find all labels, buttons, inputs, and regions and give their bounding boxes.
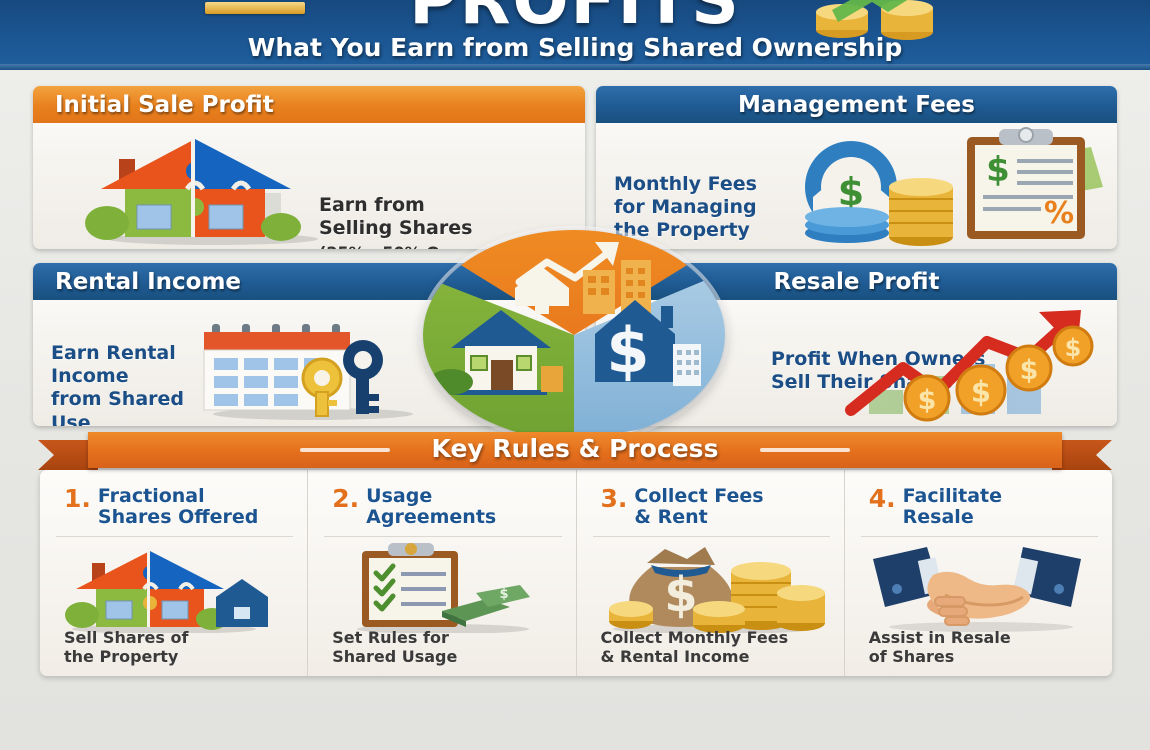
step-number: 2. xyxy=(332,486,359,511)
page-subtitle: What You Earn from Selling Shared Owners… xyxy=(0,33,1150,62)
step-divider xyxy=(593,536,830,537)
ribbon-label: Key Rules & Process xyxy=(0,434,1150,463)
step-title: Usage Agreements xyxy=(366,486,496,529)
svg-text:$: $ xyxy=(664,567,697,623)
step-number: 1. xyxy=(64,486,91,511)
rising-arrow-with-coins-icon: $ $ $ $ xyxy=(833,306,1113,424)
step-caption: Assist in Resale of Shares xyxy=(869,628,1011,666)
svg-text:$: $ xyxy=(606,314,649,387)
puzzle-piece-house-icon xyxy=(83,131,343,246)
svg-text:$: $ xyxy=(918,385,937,416)
step-facilitate-resale[interactable]: 4. Facilitate Resale xyxy=(844,470,1112,676)
key-rules-panel: 1. Fractional Shares Offered xyxy=(40,470,1112,676)
svg-text:$: $ xyxy=(971,375,991,409)
svg-text:$: $ xyxy=(500,587,509,602)
step-collect-fees-and-rent[interactable]: 3. Collect Fees & Rent $ xyxy=(576,470,844,676)
step-usage-agreements[interactable]: 2. Usage Agreements xyxy=(307,470,575,676)
step-caption: Set Rules for Shared Usage xyxy=(332,628,457,666)
key-rules-ribbon: Key Rules & Process xyxy=(0,428,1150,472)
calendar-and-keys-icon xyxy=(198,308,428,420)
step-header: 2. Usage Agreements xyxy=(332,486,561,529)
svg-text:$: $ xyxy=(986,150,1010,190)
card-copy-rental-income: Earn Rental Income from Shared Use xyxy=(51,342,206,426)
step-number: 3. xyxy=(601,486,628,511)
clipboard-checklist-cash-icon: $ xyxy=(332,541,561,633)
card-initial-sale-profit[interactable]: Initial Sale Profit xyxy=(33,86,585,249)
card-title-initial-sale-profit: Initial Sale Profit xyxy=(33,86,585,123)
step-divider xyxy=(56,536,293,537)
step-caption: Sell Shares of the Property xyxy=(64,628,188,666)
step-header: 1. Fractional Shares Offered xyxy=(64,486,293,529)
step-header: 3. Collect Fees & Rent xyxy=(601,486,830,529)
step-caption: Collect Monthly Fees & Rental Income xyxy=(601,628,789,666)
three-segment-property-pie-icon: $ xyxy=(423,230,725,440)
step-title: Fractional Shares Offered xyxy=(98,486,259,529)
svg-text:$: $ xyxy=(1065,334,1082,362)
step-title: Facilitate Resale xyxy=(903,486,1002,529)
svg-text:%: % xyxy=(1044,196,1074,231)
step-fractional-shares-offered[interactable]: 1. Fractional Shares Offered xyxy=(40,470,307,676)
clipboard-coins-percent-icon: $ xyxy=(791,125,1111,247)
card-title-management-fees: Management Fees xyxy=(596,86,1117,123)
step-title: Collect Fees & Rent xyxy=(634,486,763,529)
puzzle-piece-house-icon xyxy=(64,541,293,633)
step-number: 4. xyxy=(869,486,896,511)
card-management-fees[interactable]: Management Fees Monthly Fees for Managin… xyxy=(596,86,1117,249)
svg-text:$: $ xyxy=(1020,355,1039,386)
header-banner: PROFITS What You Earn from Selling Share… xyxy=(0,0,1150,70)
step-divider xyxy=(324,536,561,537)
step-divider xyxy=(861,536,1098,537)
handshake-icon xyxy=(869,541,1098,633)
step-header: 4. Facilitate Resale xyxy=(869,486,1098,529)
money-bag-and-coins-icon: $ xyxy=(601,541,830,633)
infographic-page: PROFITS What You Earn from Selling Share… xyxy=(0,0,1150,750)
